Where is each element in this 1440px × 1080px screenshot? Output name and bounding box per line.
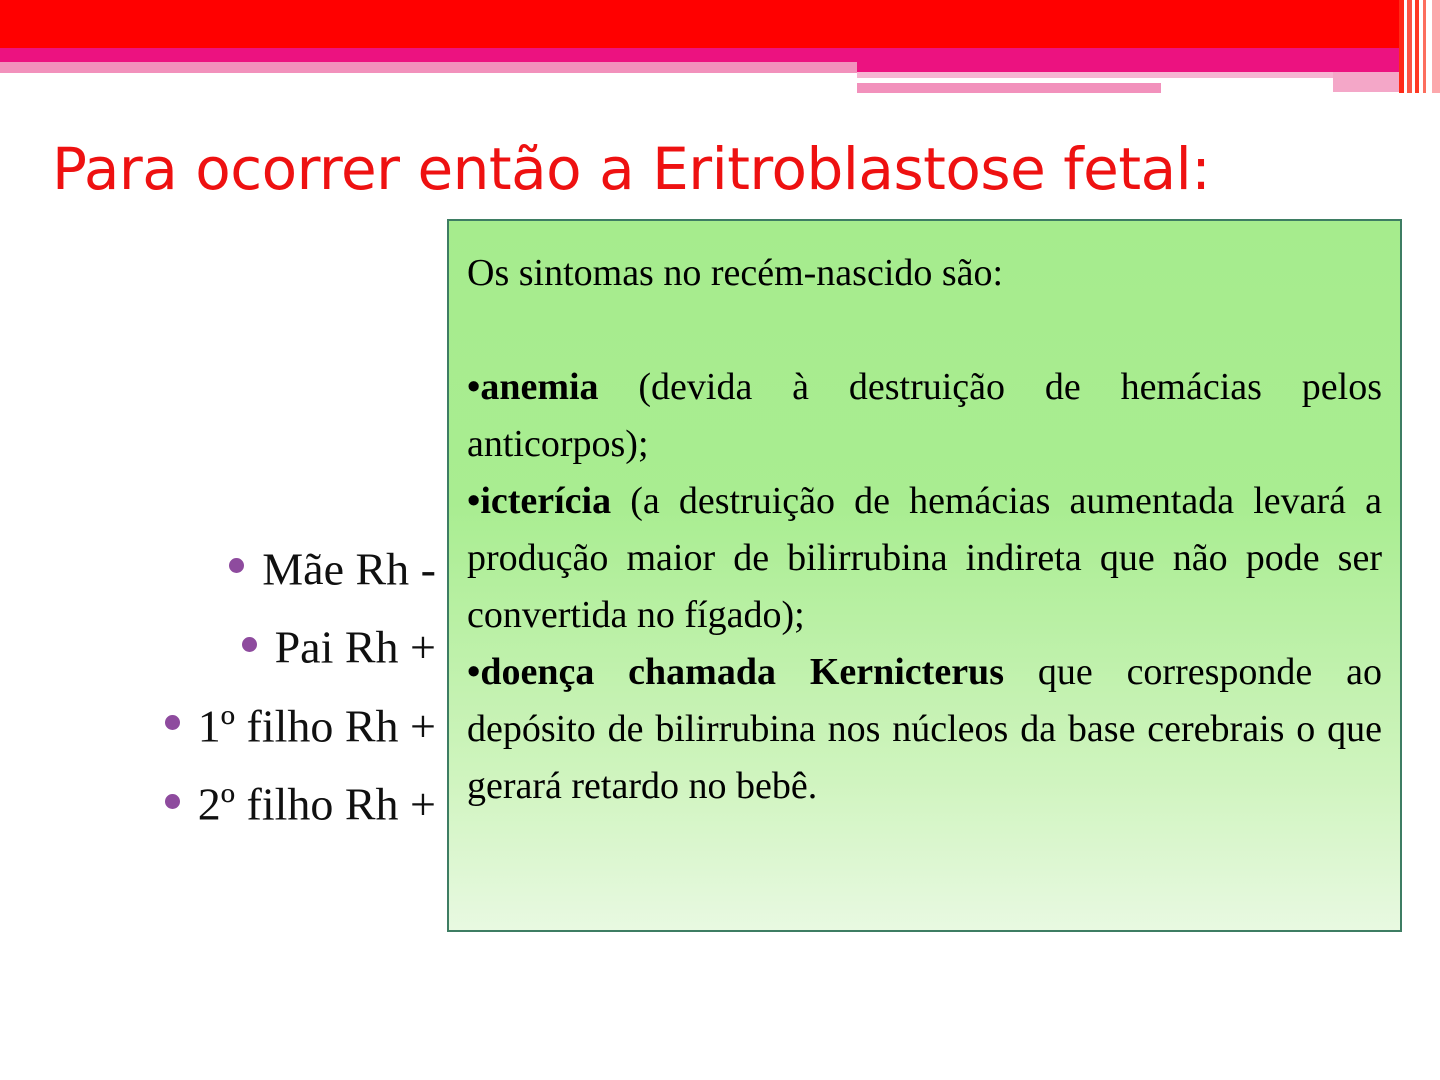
symptom-description: (devida à destruição de hemácias pelos a… [467,366,1382,465]
header-edge-stripe-9 [1432,0,1440,93]
header-magenta-band-right [857,48,1399,72]
header-pink-band-left [0,62,858,73]
header-red-band [0,0,1399,48]
bullet-icon [229,558,244,573]
symptoms-intro-text: Os sintomas no recém-nascido são: [467,245,1382,302]
list-item-label: Mãe Rh - [262,543,436,594]
list-item-label: Pai Rh + [275,622,436,673]
header-decoration [0,0,1440,100]
list-item-label: 2º filho Rh + [198,779,436,830]
list-item: Mãe Rh - [40,528,440,606]
list-item-label: 1º filho Rh + [198,700,436,751]
list-item: 1º filho Rh + [40,685,440,763]
bullet-icon [165,794,180,809]
symptom-term: doença chamada Kernicterus [480,651,1004,693]
page-title: Para ocorrer então a Eritroblastose feta… [52,131,1232,207]
symptom-term: icterícia [480,480,611,522]
symptoms-callout-box: Os sintomas no recém-nascido são: anemia… [447,219,1402,932]
symptom-item-ictericia: icterícia (a destruição de hemácias aume… [467,473,1382,644]
symptom-term: anemia [480,366,598,408]
symptom-item-anemia: anemia (devida à destruição de hemácias … [467,359,1382,473]
bullet-icon [242,637,257,652]
header-pink-band-right [857,83,1161,93]
bullet-icon [165,715,180,730]
list-item: 2º filho Rh + [40,763,440,841]
header-light-pink-band-far [1333,72,1399,92]
symptom-item-kernicterus: doença chamada Kernicterus que correspon… [467,644,1382,815]
list-item: Pai Rh + [40,606,440,684]
rh-condition-list: Mãe Rh - Pai Rh + 1º filho Rh + 2º filho… [40,528,440,842]
